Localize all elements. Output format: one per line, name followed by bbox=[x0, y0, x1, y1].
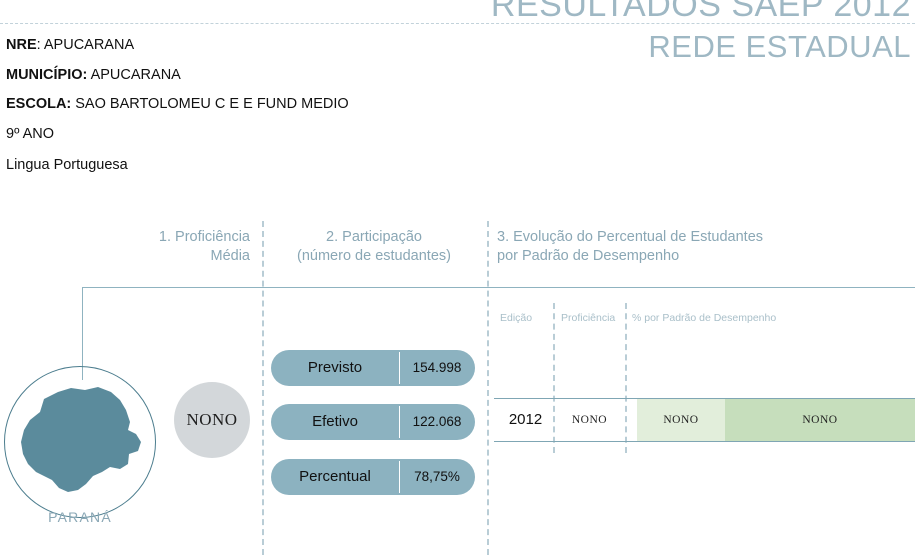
table-header-percentual-padrao: % por Padrão de Desempenho bbox=[632, 312, 776, 324]
table-cell-proficiencia: NONO bbox=[554, 399, 625, 441]
table-header-edicao: Edição bbox=[500, 312, 532, 324]
column-divider-1 bbox=[262, 221, 264, 555]
performance-band-2: NONO bbox=[725, 399, 915, 441]
info-disciplina: Lingua Portuguesa bbox=[6, 158, 526, 173]
column-divider-2 bbox=[487, 221, 489, 555]
table-row-bottom-border bbox=[494, 441, 915, 442]
table-header-proficiencia: Proficiência bbox=[561, 312, 615, 324]
performance-band-1: NONO bbox=[637, 399, 725, 441]
header-divider bbox=[0, 23, 915, 24]
table-divider-2 bbox=[625, 303, 627, 453]
pill-value: 78,75% bbox=[399, 459, 475, 495]
table-cell-edicao: 2012 bbox=[498, 399, 553, 441]
section-heading-participacao: 2. Participação (número de estudantes) bbox=[270, 228, 478, 266]
escola-label: ESCOLA: bbox=[6, 96, 71, 112]
info-escola: ESCOLA:SAO BARTOLOMEU C E E FUND MEDIO bbox=[6, 97, 526, 112]
nre-value: : APUCARANA bbox=[37, 37, 135, 53]
pill-value: 154.998 bbox=[399, 350, 475, 386]
participation-pill-efetivo[interactable]: Efetivo 122.068 bbox=[271, 404, 475, 440]
nre-label: NRE bbox=[6, 37, 37, 53]
school-info-block: NRE: APUCARANA MUNICÍPIO: APUCARANA ESCO… bbox=[6, 38, 526, 173]
pill-label: Efetivo bbox=[271, 404, 399, 440]
section-heading-evolucao: 3. Evolução do Percentual de Estudantes … bbox=[497, 228, 897, 266]
parana-map-icon bbox=[10, 372, 152, 512]
page-title: RESULTADOS SAEP 2012 bbox=[491, 0, 911, 22]
info-nre: NRE: APUCARANA bbox=[6, 38, 526, 53]
report-header: RESULTADOS SAEP 2012 REDE ESTADUAL bbox=[491, 0, 911, 62]
participation-pill-percentual[interactable]: Percentual 78,75% bbox=[271, 459, 475, 495]
report-page: RESULTADOS SAEP 2012 REDE ESTADUAL NRE: … bbox=[0, 0, 915, 555]
info-ano: 9º ANO bbox=[6, 127, 526, 142]
participation-pill-previsto[interactable]: Previsto 154.998 bbox=[271, 350, 475, 386]
map-label: PARANÁ bbox=[4, 509, 156, 525]
section-heading-proficiencia-media: 1. Proficiência Média bbox=[110, 228, 250, 266]
municipio-label: MUNICÍPIO: bbox=[6, 67, 87, 83]
page-subtitle: REDE ESTADUAL bbox=[491, 31, 911, 62]
municipio-value: APUCARANA bbox=[91, 67, 181, 83]
escola-value: SAO BARTOLOMEU C E E FUND MEDIO bbox=[71, 96, 348, 112]
pill-label: Previsto bbox=[271, 350, 399, 386]
pill-label: Percentual bbox=[271, 459, 399, 495]
pill-value: 122.068 bbox=[399, 404, 475, 440]
proficiency-badge-value: NONO bbox=[174, 382, 250, 458]
section-rule bbox=[82, 287, 915, 288]
info-municipio: MUNICÍPIO: APUCARANA bbox=[6, 68, 526, 83]
proficiency-badge: NONO bbox=[174, 382, 250, 458]
